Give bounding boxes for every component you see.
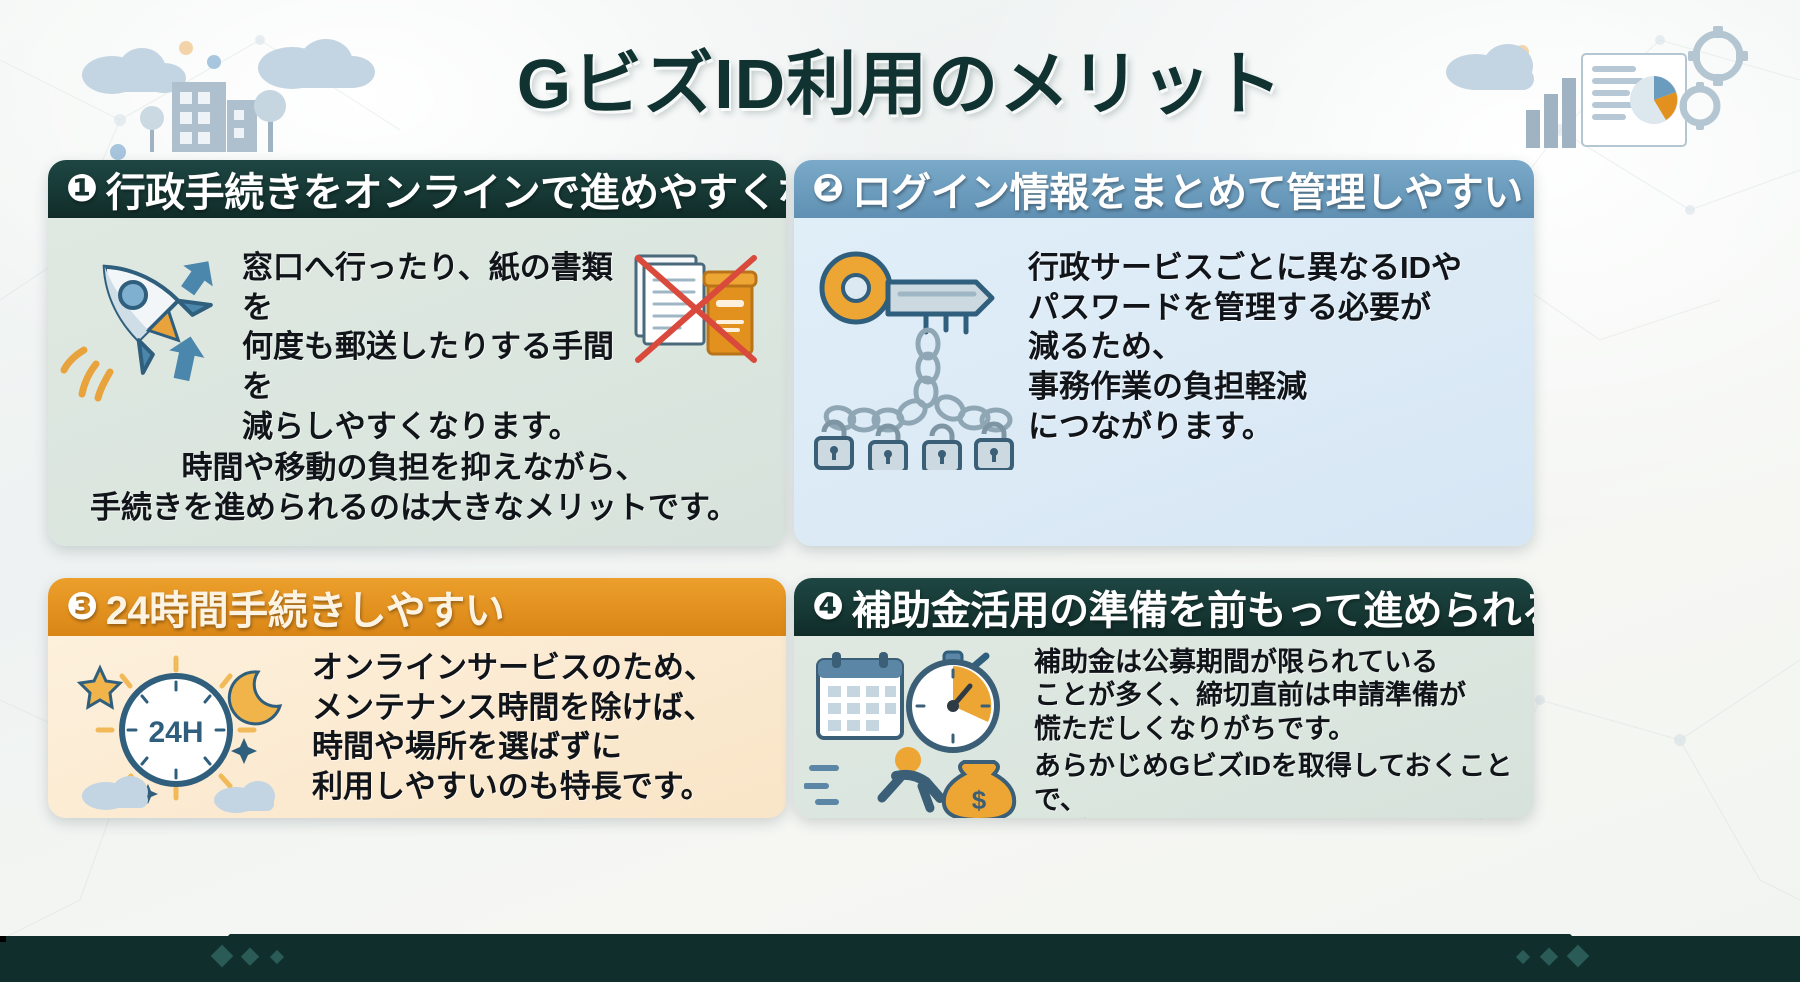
padlock-icon <box>816 422 1012 470</box>
panel-4-text-main: 補助金は公募期間が限られている ことが多く、締切直前は申請準備が 慌ただしくなり… <box>1034 646 1520 746</box>
panel-4-body: $ 補助金は公募期間が限られている ことが多く、締切直前は申請準備が 慌ただしく… <box>794 636 1534 818</box>
panel-2-header: ❷ ログイン情報をまとめて管理しやすい <box>794 160 1534 218</box>
panel-4-header: ❹ 補助金活用の準備を前もって進められる <box>794 578 1534 636</box>
panel-1-icon-no-paper <box>620 242 770 397</box>
panel-3[interactable]: ❸ 24時間手続きしやすい <box>48 578 786 818</box>
panel-3-number: ❸ <box>66 588 98 626</box>
panel-3-header-label: 24時間手続きしやすい <box>106 578 505 636</box>
panel-1-body: 窓口へ行ったり、紙の書類を 何度も郵送したりする手間を 減らしやすくなります。 <box>48 218 786 546</box>
panel-2-text-main: 行政サービスごとに異なるIDや パスワードを管理する必要が 減るため、 事務作業… <box>1028 248 1516 446</box>
title-area: GビズID利用のメリット <box>0 22 1800 134</box>
panel-4-number: ❹ <box>812 588 844 626</box>
stopwatch-icon <box>909 652 997 750</box>
panel-1-header: ❶ 行政手続きをオンラインで進めやすくなる <box>48 160 786 218</box>
clock-label: 24H <box>148 716 203 749</box>
star-icon <box>80 668 120 707</box>
panel-2-icons <box>808 240 1018 475</box>
panel-2-body: 行政サービスごとに異なるIDや パスワードを管理する必要が 減るため、 事務作業… <box>794 218 1534 546</box>
infographic-canvas: ❶ 行政手続きをオンラインで進めやすくなる <box>0 0 1800 982</box>
document-crossed-out-icon <box>620 242 770 392</box>
chain-icon <box>824 330 1010 431</box>
panel-3-icons: 24H <box>58 646 298 818</box>
key-icon <box>808 240 1018 470</box>
svg-text:$: $ <box>972 785 987 815</box>
panel-3-header: ❸ 24時間手続きしやすい <box>48 578 786 636</box>
calendar-stopwatch-money-icons: $ <box>804 646 1026 818</box>
panel-3-body: 24H オンラインサービスのため、 メンテナンス時間を除けば、 時間や場所を選ば… <box>48 636 786 818</box>
panel-1-icons <box>58 232 238 417</box>
calendar-icon <box>818 652 902 738</box>
person-running-icon <box>882 747 940 808</box>
panel-3-text-main: オンラインサービスのため、 メンテナンス時間を除けば、 時間や場所を選ばずに 利… <box>312 648 768 807</box>
speed-lines <box>806 768 836 802</box>
panel-4-text-sub: あらかじめGビズIDを取得しておくことで、 いざ申請したいときに動きやすくなりま… <box>1034 750 1520 818</box>
money-bag-icon: $ <box>944 762 1014 818</box>
page-title: GビズID利用のメリット <box>517 28 1283 129</box>
panel-2[interactable]: ❷ ログイン情報をまとめて管理しやすい <box>794 160 1534 546</box>
panel-2-number: ❷ <box>812 170 844 208</box>
moon-icon <box>229 672 280 724</box>
clock-24h-icon: 24H <box>58 646 298 818</box>
panel-1-number: ❶ <box>66 170 98 208</box>
panel-1[interactable]: ❶ 行政手続きをオンラインで進めやすくなる <box>48 160 786 546</box>
panel-4-header-label: 補助金活用の準備を前もって進められる <box>852 578 1534 636</box>
panel-1-text-main: 窓口へ行ったり、紙の書類を 何度も郵送したりする手間を 減らしやすくなります。 <box>242 248 626 446</box>
panel-1-header-label: 行政手続きをオンラインで進めやすくなる <box>106 160 786 218</box>
panel-2-header-label: ログイン情報をまとめて管理しやすい <box>852 160 1523 218</box>
panel-1-text-sub: 時間や移動の負担を抑えながら、 手続きを進められるのは大きなメリットです。 <box>58 448 770 527</box>
panel-4[interactable]: ❹ 補助金活用の準備を前もって進められる <box>794 578 1534 818</box>
bottom-band-shape <box>0 934 1800 982</box>
panel-4-icons: $ <box>804 646 1026 818</box>
rocket-icon <box>58 232 238 412</box>
